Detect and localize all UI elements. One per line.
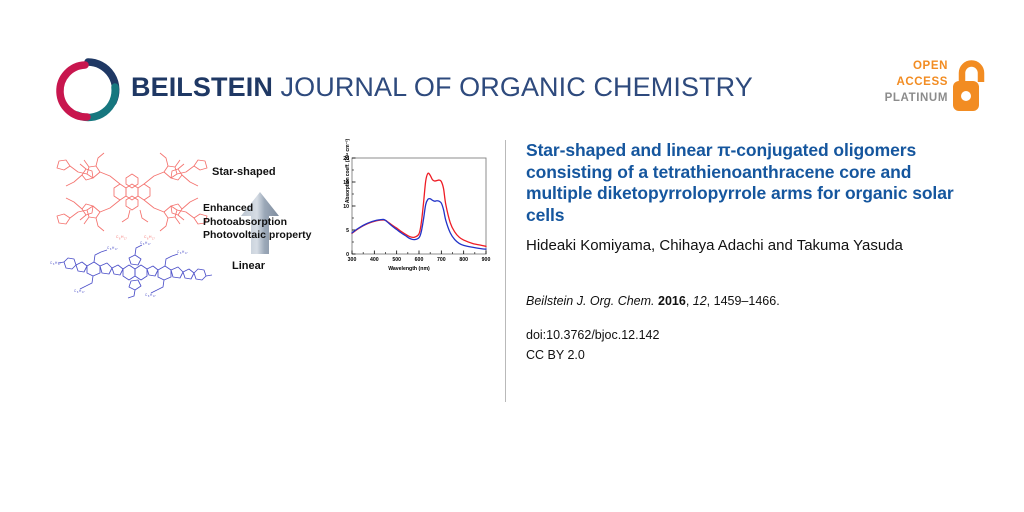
svg-text:400: 400 bbox=[370, 257, 379, 263]
svg-text:17: 17 bbox=[58, 264, 61, 266]
enhancement-line-3: Photovoltaic property bbox=[203, 229, 312, 243]
beilstein-swirl-logo bbox=[55, 57, 121, 123]
article-title: Star-shaped and linear π-conjugated olig… bbox=[526, 140, 976, 226]
linear-molecule-structure: C8H17 C8H17 C8H17 C8H17 C8H17 C8H17 bbox=[50, 232, 215, 300]
svg-text:500: 500 bbox=[392, 257, 401, 263]
open-access-badge: OPEN ACCESS PLATINUM bbox=[878, 58, 988, 120]
oa-label-platinum: PLATINUM bbox=[885, 90, 948, 106]
svg-text:17: 17 bbox=[115, 249, 118, 251]
citation-doi[interactable]: doi:10.3762/bjoc.12.142 bbox=[526, 326, 976, 344]
article-authors: Hideaki Komiyama, Chihaya Adachi and Tak… bbox=[526, 235, 976, 256]
oa-label-access: ACCESS bbox=[885, 74, 948, 90]
citation-license: CC BY 2.0 bbox=[526, 346, 976, 364]
page-header: BEILSTEIN JOURNAL OF ORGANIC CHEMISTRY O… bbox=[0, 0, 1024, 132]
absorption-spectrum-chart: Absorption coeff. (10⁴ cm⁻¹) 05101520300… bbox=[326, 150, 492, 280]
svg-text:900: 900 bbox=[482, 257, 491, 263]
svg-text:600: 600 bbox=[415, 257, 424, 263]
journal-wordmark: BEILSTEIN JOURNAL OF ORGANIC CHEMISTRY bbox=[131, 72, 753, 103]
svg-text:10: 10 bbox=[343, 204, 349, 210]
open-access-text: OPEN ACCESS PLATINUM bbox=[885, 58, 948, 106]
svg-text:17: 17 bbox=[82, 292, 85, 294]
enhancement-line-2: Photoabsorption bbox=[203, 216, 312, 230]
oa-label-open: OPEN bbox=[885, 58, 948, 74]
citation-block: Beilstein J. Org. Chem. 2016, 12, 1459–1… bbox=[526, 292, 976, 364]
citation-journal: Beilstein J. Org. Chem. bbox=[526, 294, 655, 308]
wordmark-light: JOURNAL OF ORGANIC CHEMISTRY bbox=[273, 72, 753, 102]
svg-text:15: 15 bbox=[343, 180, 349, 186]
enhancement-line-1: Enhanced bbox=[203, 202, 312, 216]
citation-year: 2016 bbox=[658, 294, 686, 308]
svg-text:800: 800 bbox=[459, 257, 468, 263]
chart-x-axis-label: Wavelength (nm) bbox=[326, 266, 492, 272]
label-linear: Linear bbox=[232, 260, 265, 272]
svg-text:17: 17 bbox=[153, 296, 156, 298]
column-divider bbox=[505, 140, 506, 402]
svg-text:17: 17 bbox=[185, 253, 188, 255]
svg-text:700: 700 bbox=[437, 257, 446, 263]
svg-text:17: 17 bbox=[148, 244, 151, 246]
article-info: Star-shaped and linear π-conjugated olig… bbox=[526, 140, 976, 364]
chart-canvas: 05101520300400500600700800900 bbox=[326, 150, 492, 280]
svg-text:5: 5 bbox=[346, 228, 349, 234]
citation-reference: Beilstein J. Org. Chem. 2016, 12, 1459–1… bbox=[526, 292, 976, 310]
citation-pages: 1459–1466. bbox=[714, 294, 780, 308]
svg-text:300: 300 bbox=[348, 257, 357, 263]
open-padlock-icon bbox=[950, 58, 988, 114]
enhancement-caption: Enhanced Photoabsorption Photovoltaic pr… bbox=[203, 202, 312, 243]
svg-text:20: 20 bbox=[343, 156, 349, 162]
label-star-shaped: Star-shaped bbox=[212, 166, 276, 178]
citation-volume: 12 bbox=[693, 294, 707, 308]
wordmark-bold: BEILSTEIN bbox=[131, 72, 273, 102]
